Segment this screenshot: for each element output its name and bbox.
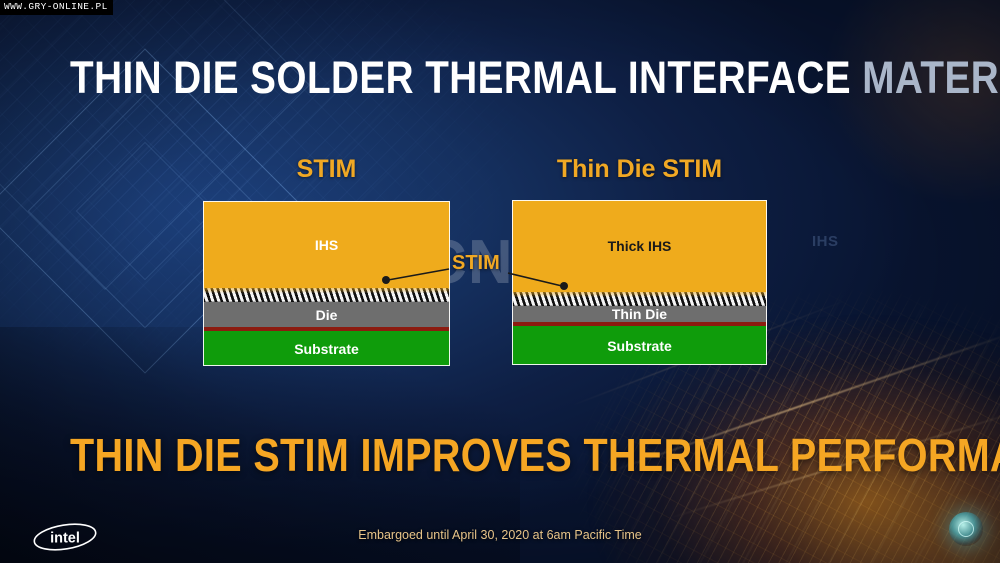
background-ghost-label: IHS [812,233,839,250]
layer-stim-hatch [203,288,450,302]
layer-thin-die: Thin Die [512,306,767,322]
layer-label-substrate: Substrate [294,341,359,357]
diagram-thin-die-stim-stack: Thick IHS Thin Die Substrate [512,200,767,365]
layer-substrate: Substrate [512,326,767,365]
bottom-headline: THIN DIE STIM IMPROVES THERMAL PERFORMAN… [70,428,930,482]
layer-substrate: Substrate [203,331,450,366]
layer-thick-ihs: Thick IHS [512,200,767,292]
diagram-heading-thin-die-stim: Thin Die STIM [512,155,767,184]
callout-label-stim: STIM [452,252,500,275]
layer-die: Die [203,302,450,327]
layer-stim-hatch [512,292,767,306]
page-title: THIN DIE SOLDER THERMAL INTERFACE MATERI… [70,52,930,104]
diagram-stim-stack: IHS Die Substrate [203,201,450,366]
watermark-gry-online: WWW.GRY-ONLINE.PL [0,0,113,15]
layer-label-ihs: IHS [315,237,338,253]
page-title-part-1: THIN DIE SOLDER THERMAL INTERFACE [70,52,862,103]
slide-canvas: IHS HD TECNOLOGÍA WWW.GRY-ONLINE.PL THIN… [0,0,1000,563]
layer-label-thin-die: Thin Die [612,306,667,322]
page-title-part-2: MATERIAL [862,52,1000,103]
diagram-heading-stim: STIM [203,155,450,184]
layer-label-substrate: Substrate [607,338,672,354]
layer-ihs: IHS [203,201,450,288]
embargo-notice: Embargoed until April 30, 2020 at 6am Pa… [0,528,1000,542]
layer-label-die: Die [316,307,338,323]
layer-label-thick-ihs: Thick IHS [608,238,672,254]
intel-wordmark: intel [50,531,80,547]
intel-logo: intel [32,522,98,552]
